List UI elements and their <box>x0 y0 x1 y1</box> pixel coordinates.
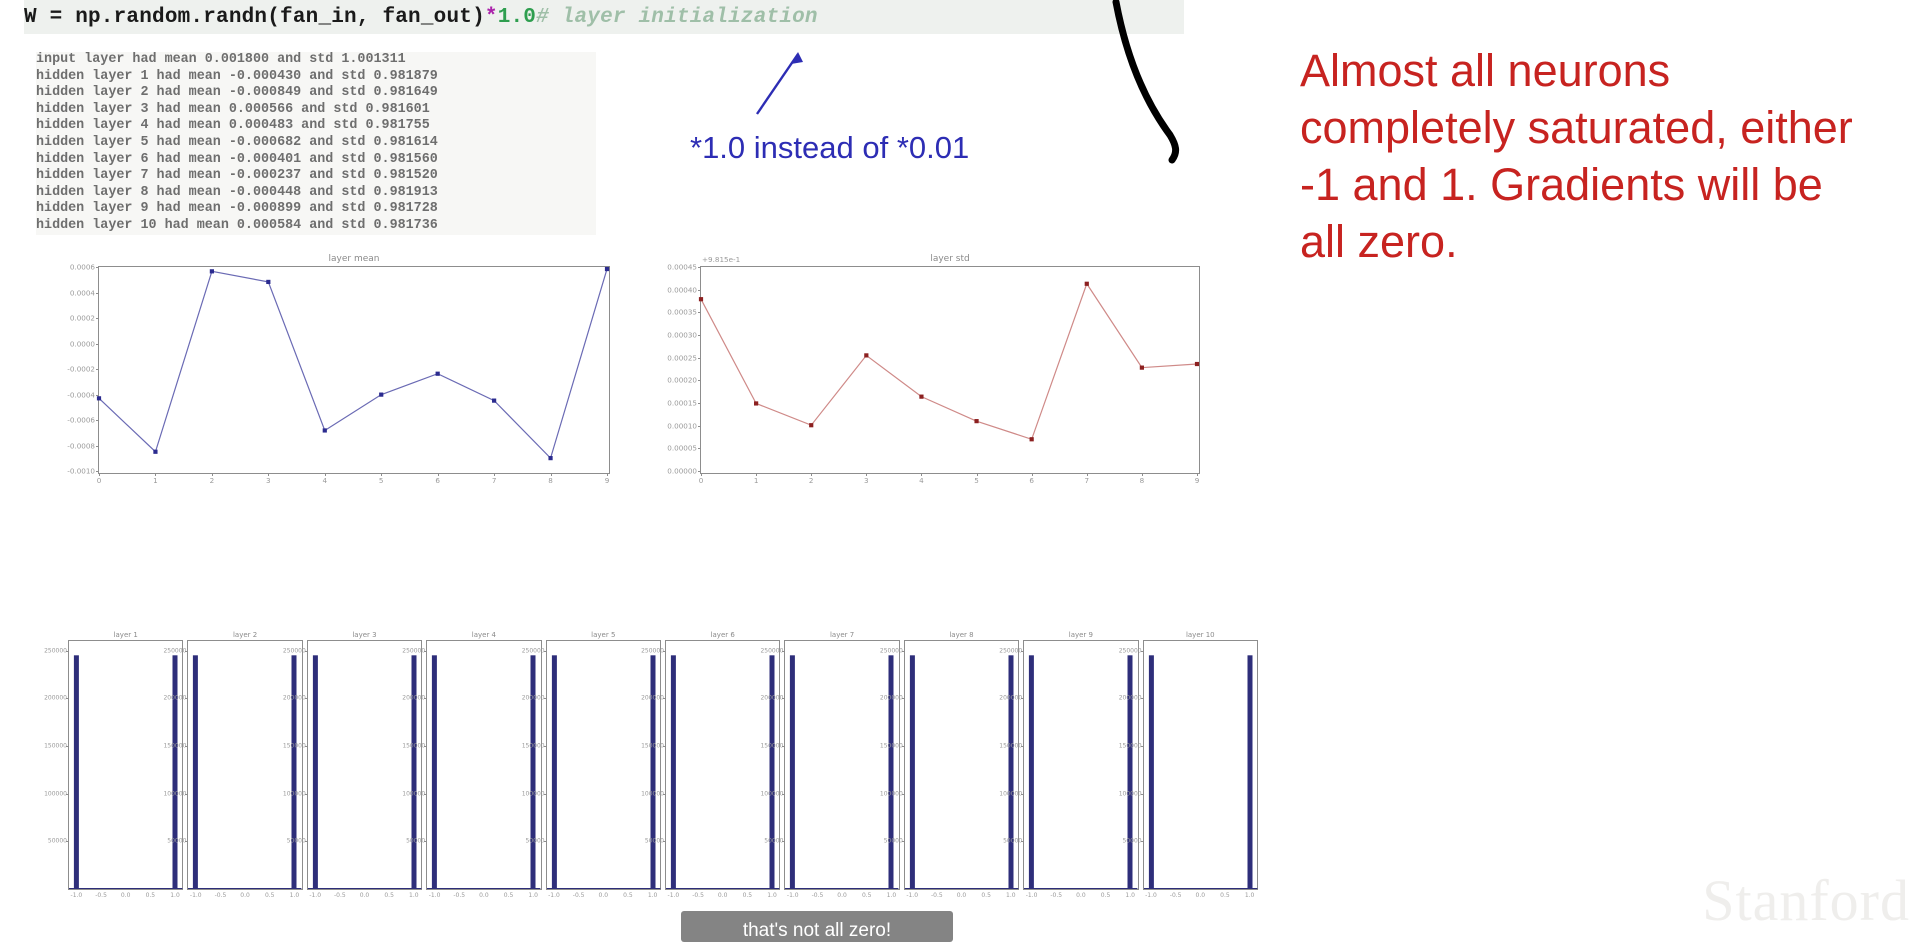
data-point-marker <box>492 399 496 403</box>
histogram-x-tick-label: 0.5 <box>384 892 394 899</box>
annotation-blue-note: *1.0 instead of *0.01 <box>690 130 969 166</box>
histogram-bar <box>1008 655 1013 889</box>
x-axis-tick-mark <box>1142 473 1143 476</box>
histogram-y-tick-label: 100000 <box>999 790 1022 797</box>
code-value: 1.0 <box>498 6 536 29</box>
chart-layer-mean: layer mean 0.00060.00040.00020.0000-0.00… <box>98 256 610 496</box>
data-point-marker <box>1085 282 1089 286</box>
histogram-x-tick-label: -1.0 <box>309 892 321 899</box>
series-layer <box>99 267 609 473</box>
x-axis-tick-label: 9 <box>1195 476 1200 485</box>
x-axis-tick-mark <box>438 473 439 476</box>
x-axis-tick-label: 7 <box>492 476 497 485</box>
histogram-x-tick-label: 0.0 <box>1076 892 1086 899</box>
stdout-line: hidden layer 7 had mean -0.000237 and st… <box>36 168 596 185</box>
caption-text: that's not all zero! <box>681 920 953 942</box>
x-axis-tick-mark <box>155 473 156 476</box>
histogram-bar <box>910 655 915 889</box>
histogram-x-tick-label: 0.5 <box>623 892 633 899</box>
histogram-panel: layer 625000020000015000010000050000-1.0… <box>665 640 780 890</box>
code-line: W = np.random.randn(fan_in, fan_out) * 1… <box>24 0 1184 34</box>
histogram-y-tick-label: 150000 <box>163 742 186 749</box>
histogram-x-tick-label: -1.0 <box>668 892 680 899</box>
y-axis-tick-label: -0.0004 <box>67 390 95 399</box>
histogram-x-tick-label: -1.0 <box>190 892 202 899</box>
data-point-marker <box>210 269 214 273</box>
histogram-bar <box>551 655 556 889</box>
x-axis-tick-label: 0 <box>97 476 102 485</box>
x-axis-tick-label: 9 <box>605 476 610 485</box>
histogram-panel-title: layer 5 <box>547 631 660 639</box>
y-axis-tick-label: 0.00000 <box>667 467 697 476</box>
histogram-x-tick-label: 0.0 <box>957 892 967 899</box>
histogram-y-tick-label: 250000 <box>999 647 1022 654</box>
histogram-x-tick-label: 0.5 <box>146 892 156 899</box>
histogram-bar <box>1029 655 1034 889</box>
x-axis-tick-mark <box>494 473 495 476</box>
code-operator: * <box>485 6 498 29</box>
stdout-block: input layer had mean 0.001800 and std 1.… <box>36 52 596 235</box>
data-point-marker <box>605 267 609 271</box>
histogram-y-tick-label: 250000 <box>641 647 664 654</box>
histogram-panel-title: layer 9 <box>1024 631 1137 639</box>
x-axis-tick-label: 2 <box>809 476 814 485</box>
histogram-x-tick-label: -0.5 <box>931 892 943 899</box>
histogram-x-tick-label: 0.0 <box>1196 892 1206 899</box>
histogram-x-tick-label: 0.5 <box>981 892 991 899</box>
histogram-y-tick-label: 200000 <box>283 695 306 702</box>
histogram-y-tick-label: 50000 <box>764 838 783 845</box>
histogram-panel-title: layer 6 <box>666 631 779 639</box>
histogram-x-tick-label: -0.5 <box>692 892 704 899</box>
histogram-bar <box>531 655 536 889</box>
x-axis-tick-mark <box>551 473 552 476</box>
histogram-y-tick-label: 250000 <box>1119 647 1142 654</box>
histogram-bar <box>671 655 676 889</box>
x-axis-tick-label: 4 <box>322 476 327 485</box>
histogram-y-tick-label: 50000 <box>526 838 545 845</box>
histogram-y-tick-label: 250000 <box>402 647 425 654</box>
histogram-x-tick-label: 1.0 <box>409 892 419 899</box>
series-line <box>701 284 1197 439</box>
histogram-panel-title: layer 7 <box>785 631 898 639</box>
histogram-y-tick-label: 50000 <box>1123 838 1142 845</box>
histogram-x-tick-label: 0.0 <box>121 892 131 899</box>
data-point-marker <box>97 396 101 400</box>
data-point-marker <box>974 419 978 423</box>
histogram-bar <box>292 655 297 889</box>
histogram-panel: layer 925000020000015000010000050000-1.0… <box>1023 640 1138 890</box>
x-axis-tick-mark <box>325 473 326 476</box>
histogram-x-tick-label: 1.0 <box>648 892 658 899</box>
stanford-watermark: Stanford <box>1702 867 1910 934</box>
y-axis-tick-label: 0.00035 <box>667 308 697 317</box>
histogram-bars-layer <box>308 641 421 889</box>
histogram-y-tick-label: 100000 <box>163 790 186 797</box>
histogram-y-tick-label: 150000 <box>760 742 783 749</box>
x-axis-tick-label: 3 <box>864 476 869 485</box>
histogram-bar <box>650 655 655 889</box>
histogram-panel-title: layer 10 <box>1144 631 1257 639</box>
x-axis-tick-mark <box>268 473 269 476</box>
histogram-x-tick-label: -0.5 <box>334 892 346 899</box>
series-layer <box>701 267 1199 473</box>
histogram-x-tick-label: -0.5 <box>812 892 824 899</box>
histogram-x-tick-label: 0.0 <box>599 892 609 899</box>
histogram-x-tick-label: -0.5 <box>573 892 585 899</box>
histogram-bars-layer <box>188 641 301 889</box>
histogram-bars-layer <box>547 641 660 889</box>
x-axis-tick-label: 1 <box>153 476 158 485</box>
histogram-x-tick-label: 0.5 <box>265 892 275 899</box>
histogram-x-tick-label: 1.0 <box>887 892 897 899</box>
chart-layer-std-title: layer std <box>700 254 1200 264</box>
y-axis-tick-label: 0.00030 <box>667 331 697 340</box>
histogram-y-tick-label: 50000 <box>287 838 306 845</box>
histogram-y-tick-label: 250000 <box>163 647 186 654</box>
y-axis-tick-label: -0.0008 <box>67 441 95 450</box>
histogram-x-tick-label: 1.0 <box>1006 892 1016 899</box>
x-axis-tick-label: 8 <box>548 476 553 485</box>
histogram-y-tick-label: 100000 <box>522 790 545 797</box>
x-axis-tick-label: 5 <box>974 476 979 485</box>
histogram-x-tick-label: 1.0 <box>290 892 300 899</box>
histogram-y-tick-label: 150000 <box>402 742 425 749</box>
stdout-line: hidden layer 8 had mean -0.000448 and st… <box>36 185 596 202</box>
histogram-bar <box>411 655 416 889</box>
histogram-panel: layer 425000020000015000010000050000-1.0… <box>426 640 541 890</box>
histogram-y-tick-label: 200000 <box>522 695 545 702</box>
y-axis-tick-label: 0.0004 <box>70 288 95 297</box>
data-point-marker <box>699 297 703 301</box>
histogram-y-tick-label: 250000 <box>522 647 545 654</box>
histogram-y-tick-label: 200000 <box>999 695 1022 702</box>
histogram-panel: layer 525000020000015000010000050000-1.0… <box>546 640 661 890</box>
histogram-y-tick-label: 200000 <box>402 695 425 702</box>
histogram-y-tick-label: 100000 <box>283 790 306 797</box>
histogram-x-tick-label: -1.0 <box>906 892 918 899</box>
histogram-panel-title: layer 1 <box>69 631 182 639</box>
black-pen-stroke-icon <box>1110 0 1180 190</box>
code-comment: # layer initialization <box>536 6 818 29</box>
histogram-bars-layer <box>1024 641 1137 889</box>
chart-layer-std-axes: 0.000450.000400.000350.000300.000250.000… <box>700 266 1200 474</box>
data-point-marker <box>436 372 440 376</box>
y-axis-tick-label: 0.00005 <box>667 444 697 453</box>
histogram-bar <box>173 655 178 889</box>
y-axis-tick-label: -0.0006 <box>67 416 95 425</box>
histogram-y-tick-label: 50000 <box>884 838 903 845</box>
histogram-y-tick-label: 250000 <box>760 647 783 654</box>
x-axis-tick-mark <box>977 473 978 476</box>
x-axis-tick-label: 2 <box>210 476 215 485</box>
histogram-x-tick-label: -1.0 <box>1026 892 1038 899</box>
histogram-y-tick-label: 100000 <box>641 790 664 797</box>
histogram-x-tick-label: 0.0 <box>240 892 250 899</box>
histogram-x-tick-label: 0.5 <box>862 892 872 899</box>
histogram-x-tick-label: -0.5 <box>215 892 227 899</box>
x-axis-tick-mark <box>1032 473 1033 476</box>
histogram-bar <box>790 655 795 889</box>
histogram-bar <box>313 655 318 889</box>
histogram-bars-layer <box>427 641 540 889</box>
histogram-panel: layer 125000020000015000010000050000-1.0… <box>68 640 183 890</box>
data-point-marker <box>754 401 758 405</box>
stdout-line: hidden layer 5 had mean -0.000682 and st… <box>36 135 596 152</box>
y-axis-tick-label: 0.0002 <box>70 314 95 323</box>
stdout-line: hidden layer 9 had mean -0.000899 and st… <box>36 201 596 218</box>
stdout-line: hidden layer 3 had mean 0.000566 and std… <box>36 102 596 119</box>
chart-layer-mean-title: layer mean <box>98 254 610 264</box>
histogram-panel-title: layer 8 <box>905 631 1018 639</box>
data-point-marker <box>1195 362 1199 366</box>
x-axis-tick-label: 1 <box>754 476 759 485</box>
histogram-panel: layer 325000020000015000010000050000-1.0… <box>307 640 422 890</box>
histogram-x-tick-label: -0.5 <box>453 892 465 899</box>
stdout-line: hidden layer 2 had mean -0.000849 and st… <box>36 85 596 102</box>
histogram-panel: layer 225000020000015000010000050000-1.0… <box>187 640 302 890</box>
histogram-y-tick-label: 150000 <box>44 742 67 749</box>
x-axis-tick-mark <box>381 473 382 476</box>
x-axis-tick-label: 3 <box>266 476 271 485</box>
x-axis-tick-mark <box>701 473 702 476</box>
histogram-bar <box>889 655 894 889</box>
histogram-bar <box>1128 655 1133 889</box>
x-axis-tick-label: 6 <box>1029 476 1034 485</box>
histogram-x-tick-label: -0.5 <box>1050 892 1062 899</box>
histogram-bar <box>193 655 198 889</box>
histogram-y-tick-label: 150000 <box>522 742 545 749</box>
y-axis-tick-label: 0.00025 <box>667 353 697 362</box>
y-axis-tick-label: 0.0006 <box>70 263 95 272</box>
histogram-y-tick-label: 200000 <box>880 695 903 702</box>
x-axis-tick-label: 8 <box>1140 476 1145 485</box>
histogram-bars-layer <box>785 641 898 889</box>
histogram-bar <box>74 655 79 889</box>
histogram-y-tick-label: 50000 <box>406 838 425 845</box>
x-axis-tick-mark <box>1087 473 1088 476</box>
histogram-y-tick-label: 250000 <box>44 647 67 654</box>
histogram-x-tick-label: 0.5 <box>1101 892 1111 899</box>
data-point-marker <box>266 280 270 284</box>
histogram-y-tick-label: 200000 <box>760 695 783 702</box>
histogram-x-tick-label: -1.0 <box>1145 892 1157 899</box>
y-axis-tick-label: 0.00010 <box>667 421 697 430</box>
y-axis-tick-label: 0.00020 <box>667 376 697 385</box>
histogram-x-tick-label: 1.0 <box>767 892 777 899</box>
histogram-y-tick-label: 200000 <box>163 695 186 702</box>
histogram-x-tick-label: 0.0 <box>360 892 370 899</box>
chart-layer-std: layer std +9.815e-1 0.000450.000400.0003… <box>700 256 1200 496</box>
histogram-y-tick-label: 100000 <box>760 790 783 797</box>
histogram-x-tick-label: 1.0 <box>1245 892 1255 899</box>
histogram-bar <box>1247 655 1252 889</box>
histogram-y-tick-label: 50000 <box>1003 838 1022 845</box>
histogram-panel: layer 825000020000015000010000050000-1.0… <box>904 640 1019 890</box>
data-point-marker <box>323 428 327 432</box>
histogram-panel: layer 1025000020000015000010000050000-1.… <box>1143 640 1258 890</box>
x-axis-tick-label: 7 <box>1084 476 1089 485</box>
histogram-x-tick-label: -1.0 <box>787 892 799 899</box>
histogram-bars-layer <box>69 641 182 889</box>
x-axis-tick-mark <box>921 473 922 476</box>
histogram-y-tick-label: 250000 <box>880 647 903 654</box>
histogram-y-tick-label: 150000 <box>641 742 664 749</box>
x-axis-tick-mark <box>99 473 100 476</box>
y-axis-tick-label: 0.00040 <box>667 285 697 294</box>
stdout-line: hidden layer 6 had mean -0.000401 and st… <box>36 152 596 169</box>
histogram-y-tick-label: 100000 <box>402 790 425 797</box>
histogram-x-tick-label: 0.5 <box>504 892 514 899</box>
histogram-bar <box>432 655 437 889</box>
chart-layer-mean-axes: 0.00060.00040.00020.0000-0.0002-0.0004-0… <box>98 266 610 474</box>
histogram-x-tick-label: 0.0 <box>479 892 489 899</box>
data-point-marker <box>548 456 552 460</box>
histogram-y-tick-label: 100000 <box>880 790 903 797</box>
data-point-marker <box>919 395 923 399</box>
x-axis-tick-label: 4 <box>919 476 924 485</box>
stdout-line: hidden layer 10 had mean 0.000584 and st… <box>36 218 596 235</box>
x-axis-tick-mark <box>212 473 213 476</box>
histogram-bars-layer <box>666 641 779 889</box>
data-point-marker <box>379 393 383 397</box>
histogram-y-tick-label: 50000 <box>167 838 186 845</box>
histogram-x-tick-label: -0.5 <box>95 892 107 899</box>
code-prefix: W = np.random.randn(fan_in, fan_out) <box>24 6 485 29</box>
histogram-panel-title: layer 4 <box>427 631 540 639</box>
y-axis-tick-label: 0.00015 <box>667 399 697 408</box>
data-point-marker <box>1030 437 1034 441</box>
histogram-x-tick-label: -1.0 <box>71 892 83 899</box>
histogram-panel: layer 725000020000015000010000050000-1.0… <box>784 640 899 890</box>
histogram-x-tick-label: 1.0 <box>1125 892 1135 899</box>
histogram-x-tick-label: 0.0 <box>837 892 847 899</box>
stdout-line: input layer had mean 0.001800 and std 1.… <box>36 52 596 69</box>
histogram-y-tick-label: 250000 <box>283 647 306 654</box>
histogram-y-tick-label: 100000 <box>44 790 67 797</box>
histogram-y-tick-label: 50000 <box>48 838 67 845</box>
histogram-x-tick-label: 0.5 <box>743 892 753 899</box>
stdout-line: hidden layer 4 had mean 0.000483 and std… <box>36 118 596 135</box>
chart-histogram-row: layer 125000020000015000010000050000-1.0… <box>68 630 1258 930</box>
histogram-x-tick-label: -1.0 <box>548 892 560 899</box>
histogram-y-tick-label: 150000 <box>880 742 903 749</box>
histogram-panel-title: layer 3 <box>308 631 421 639</box>
x-axis-tick-label: 5 <box>379 476 384 485</box>
histogram-y-tick-label: 200000 <box>641 695 664 702</box>
histogram-y-tick-label: 150000 <box>999 742 1022 749</box>
histogram-bars-layer <box>905 641 1018 889</box>
series-line <box>99 269 607 458</box>
y-axis-tick-label: -0.0010 <box>67 467 95 476</box>
histogram-x-tick-label: 1.0 <box>528 892 538 899</box>
annotation-red-note: Almost all neurons completely saturated,… <box>1300 42 1880 270</box>
histogram-x-tick-label: 1.0 <box>170 892 180 899</box>
x-axis-tick-mark <box>811 473 812 476</box>
data-point-marker <box>1140 366 1144 370</box>
histogram-y-tick-label: 150000 <box>1119 742 1142 749</box>
y-axis-tick-label: -0.0002 <box>67 365 95 374</box>
x-axis-tick-mark <box>756 473 757 476</box>
histogram-bars-layer <box>1144 641 1257 889</box>
stdout-line: hidden layer 1 had mean -0.000430 and st… <box>36 69 596 86</box>
histogram-bar <box>1148 655 1153 889</box>
data-point-marker <box>809 423 813 427</box>
x-axis-tick-mark <box>866 473 867 476</box>
histogram-y-tick-label: 150000 <box>283 742 306 749</box>
x-axis-tick-mark <box>607 473 608 476</box>
histogram-x-tick-label: -0.5 <box>1170 892 1182 899</box>
histogram-x-tick-label: -1.0 <box>429 892 441 899</box>
histogram-panel-title: layer 2 <box>188 631 301 639</box>
data-point-marker <box>864 353 868 357</box>
chart-layer-std-offset-label: +9.815e-1 <box>702 255 740 264</box>
data-point-marker <box>153 450 157 454</box>
y-axis-tick-label: 0.0000 <box>70 339 95 348</box>
histogram-y-tick-label: 100000 <box>1119 790 1142 797</box>
y-axis-tick-label: 0.00045 <box>667 263 697 272</box>
histogram-y-tick-label: 200000 <box>44 695 67 702</box>
histogram-x-tick-label: 0.5 <box>1220 892 1230 899</box>
histogram-x-tick-label: 0.0 <box>718 892 728 899</box>
x-axis-tick-label: 0 <box>699 476 704 485</box>
x-axis-tick-label: 6 <box>435 476 440 485</box>
x-axis-tick-mark <box>1197 473 1198 476</box>
histogram-y-tick-label: 50000 <box>645 838 664 845</box>
histogram-bar <box>770 655 775 889</box>
blue-arrow-icon <box>735 48 825 128</box>
histogram-y-tick-label: 200000 <box>1119 695 1142 702</box>
